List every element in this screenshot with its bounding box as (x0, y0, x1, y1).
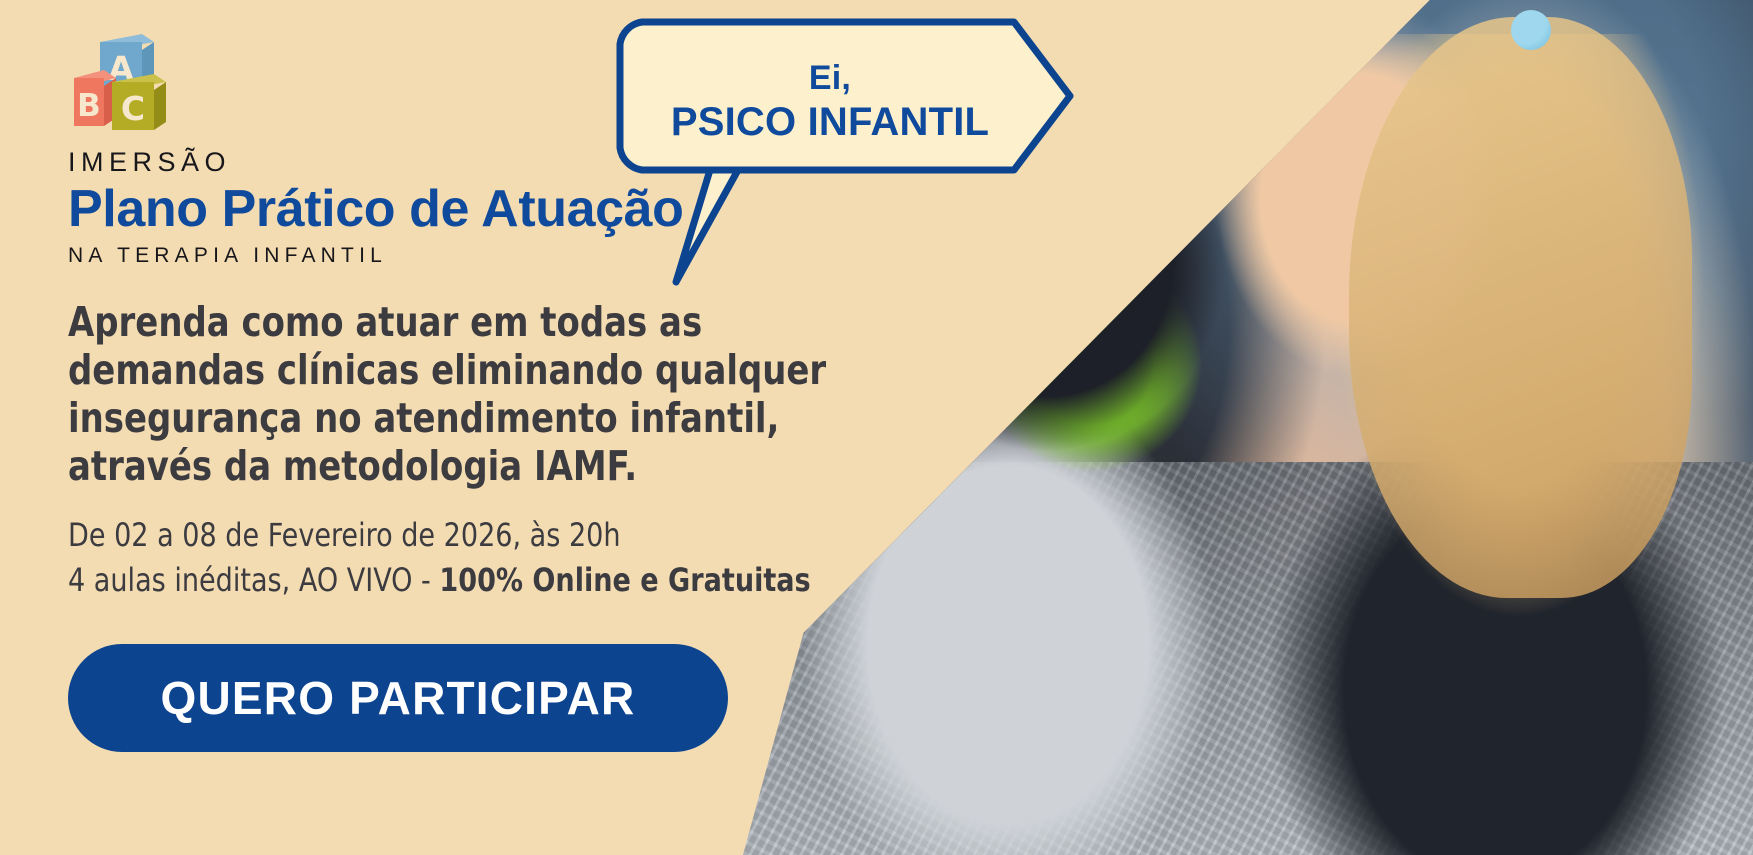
photo-child-hair (1349, 17, 1692, 598)
page-subtitle: NA TERAPIA INFANTIL (68, 244, 948, 267)
headline-line: insegurança no atendimento infantil, (68, 395, 749, 443)
event-date-line: De 02 a 08 de Fevereiro de 2026, às 20h (68, 513, 895, 558)
event-format-strong: 100% Online e Gratuitas (439, 561, 810, 599)
eyebrow-label: IMERSÃO (68, 148, 948, 178)
headline-line: demandas clínicas eliminando qualquer (68, 347, 749, 395)
promo-banner: Ei, PSICO INFANTIL A B (0, 0, 1753, 855)
headline-line: Aprenda como atuar em todas as (68, 299, 749, 347)
svg-text:B: B (77, 88, 101, 124)
page-title: Plano Prático de Atuação (68, 180, 948, 238)
event-format-line: 4 aulas inéditas, AO VIVO - 100% Online … (68, 558, 895, 603)
svg-text:C: C (121, 89, 145, 128)
event-details: De 02 a 08 de Fevereiro de 2026, às 20h … (68, 513, 895, 604)
content-column: A B C IMERSÃO Plano Prático de (68, 28, 948, 752)
block-b-icon: B (74, 70, 116, 126)
abc-blocks-logo: A B C (68, 28, 188, 136)
headline-line: através da metodologia IAMF. (68, 443, 749, 491)
headline-paragraph: Aprenda como atuar em todas as demandas … (68, 299, 749, 491)
photo-hair-clip (1511, 10, 1551, 50)
block-c-icon: C (112, 74, 166, 130)
abc-blocks-icon: A B C (68, 28, 188, 136)
event-format-prefix: 4 aulas inéditas, AO VIVO - (68, 561, 439, 599)
quero-participar-button[interactable]: QUERO PARTICIPAR (68, 644, 728, 752)
